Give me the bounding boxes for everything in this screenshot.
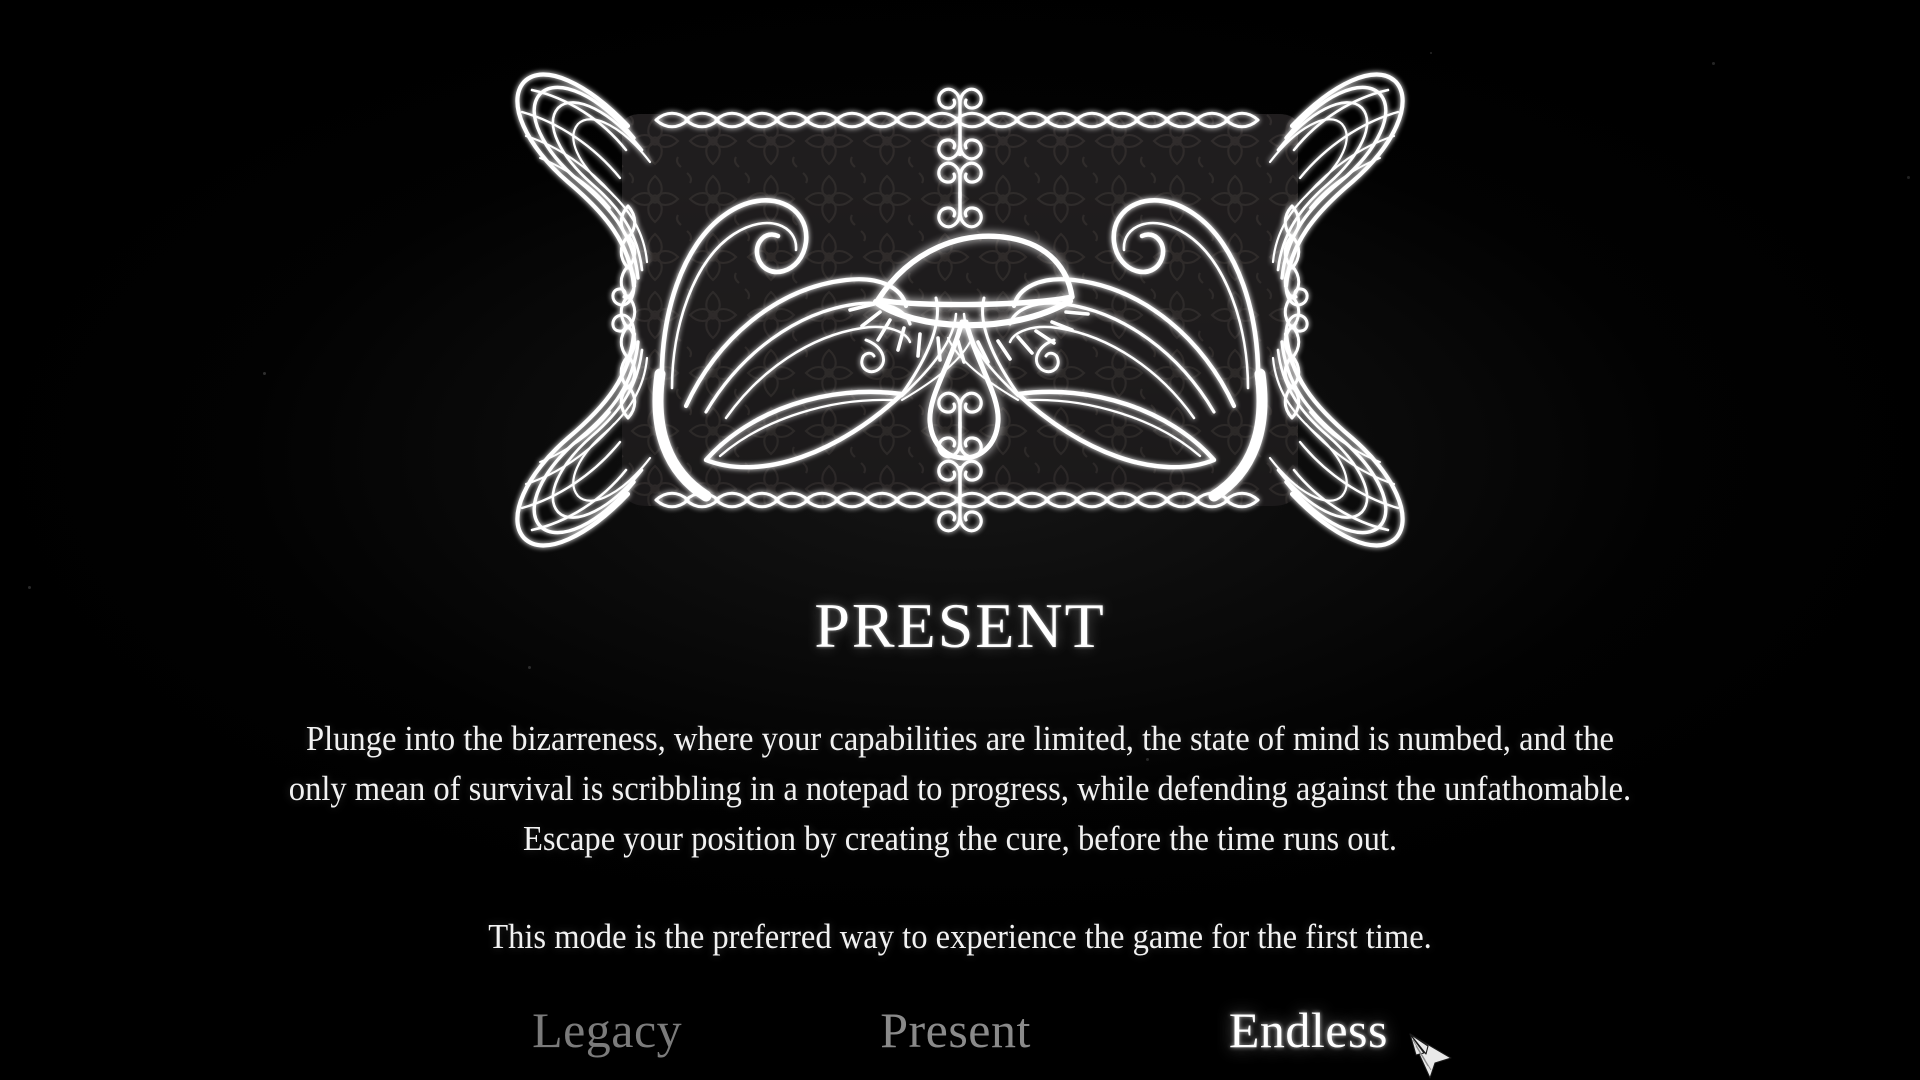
dust-speck (28, 586, 31, 589)
dust-speck (263, 372, 266, 375)
mode-description-line: Plunge into the bizarreness, where your … (151, 714, 1769, 764)
mode-description-line: only mean of survival is scribbling in a… (151, 764, 1769, 814)
game-mode-select-screen: PRESENT Plunge into the bizarreness, whe… (0, 0, 1920, 1080)
mode-menu-item-legacy[interactable]: Legacy (532, 1000, 682, 1060)
dust-speck (1712, 62, 1715, 65)
dust-speck (528, 666, 531, 669)
dust-speck (1907, 176, 1910, 179)
mode-description: Plunge into the bizarreness, where your … (90, 714, 1830, 962)
dust-speck (1430, 52, 1432, 54)
mode-menu: Legacy Present Endless (0, 1000, 1920, 1060)
mode-menu-item-present[interactable]: Present (880, 1000, 1031, 1060)
ornate-closed-eye-emblem (510, 54, 1410, 599)
mode-menu-item-endless[interactable]: Endless (1229, 1000, 1388, 1060)
mode-description-note: This mode is the preferred way to experi… (151, 912, 1769, 962)
mode-description-line: Escape your position by creating the cur… (151, 814, 1769, 864)
description-spacer (90, 864, 1830, 912)
page-title: PRESENT (0, 594, 1920, 658)
